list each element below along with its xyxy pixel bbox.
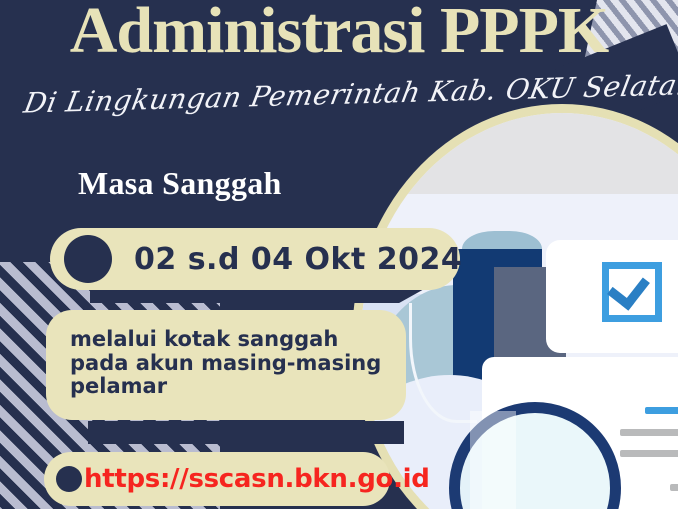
magnifier-glare <box>470 411 516 509</box>
illustration-cream-ring <box>352 104 678 509</box>
person-arm-shape <box>409 303 476 424</box>
document-line <box>670 484 678 491</box>
website-url[interactable]: https://sscasn.bkn.go.id <box>84 464 430 494</box>
magnifying-glass-icon <box>449 402 621 509</box>
section-heading: Masa Sanggah <box>78 165 282 202</box>
document-card-icon <box>546 240 678 353</box>
document-line <box>620 429 678 436</box>
date-label: 02 s.d 04 Okt 2024 <box>134 242 462 277</box>
document-card-lower <box>482 357 678 509</box>
date-pill: 02 s.d 04 Okt 2024 <box>50 228 460 290</box>
note-line-3: pelamar <box>70 375 381 399</box>
note-pill: melalui kotak sanggah pada akun masing-m… <box>46 310 406 420</box>
poster-canvas: Administrasi PPPK Di Lingkungan Pemerint… <box>0 0 678 509</box>
checkbox-checked-icon <box>602 262 662 322</box>
poster-title: Administrasi PPPK <box>0 0 678 64</box>
illustration-content <box>361 113 678 509</box>
accent-bar-upper <box>90 288 426 303</box>
accent-bar-lower <box>88 421 404 444</box>
person-figure-icon <box>462 231 542 276</box>
note-line-1: melalui kotak sanggah <box>70 328 381 352</box>
illustration-circle <box>352 104 678 509</box>
document-line <box>620 450 678 457</box>
bullet-dot-icon <box>56 466 82 492</box>
url-pill[interactable]: https://sscasn.bkn.go.id <box>44 452 390 506</box>
person-body-shape <box>453 249 541 484</box>
note-line-2: pada akun masing-masing <box>70 352 381 376</box>
person-inner-shape <box>494 267 566 466</box>
note-text: melalui kotak sanggah pada akun masing-m… <box>70 328 381 399</box>
poster-subtitle: Di Lingkungan Pemerintah Kab. OKU Selata… <box>21 69 651 119</box>
document-line-blue <box>645 407 678 414</box>
bullet-dot-icon <box>64 235 112 283</box>
